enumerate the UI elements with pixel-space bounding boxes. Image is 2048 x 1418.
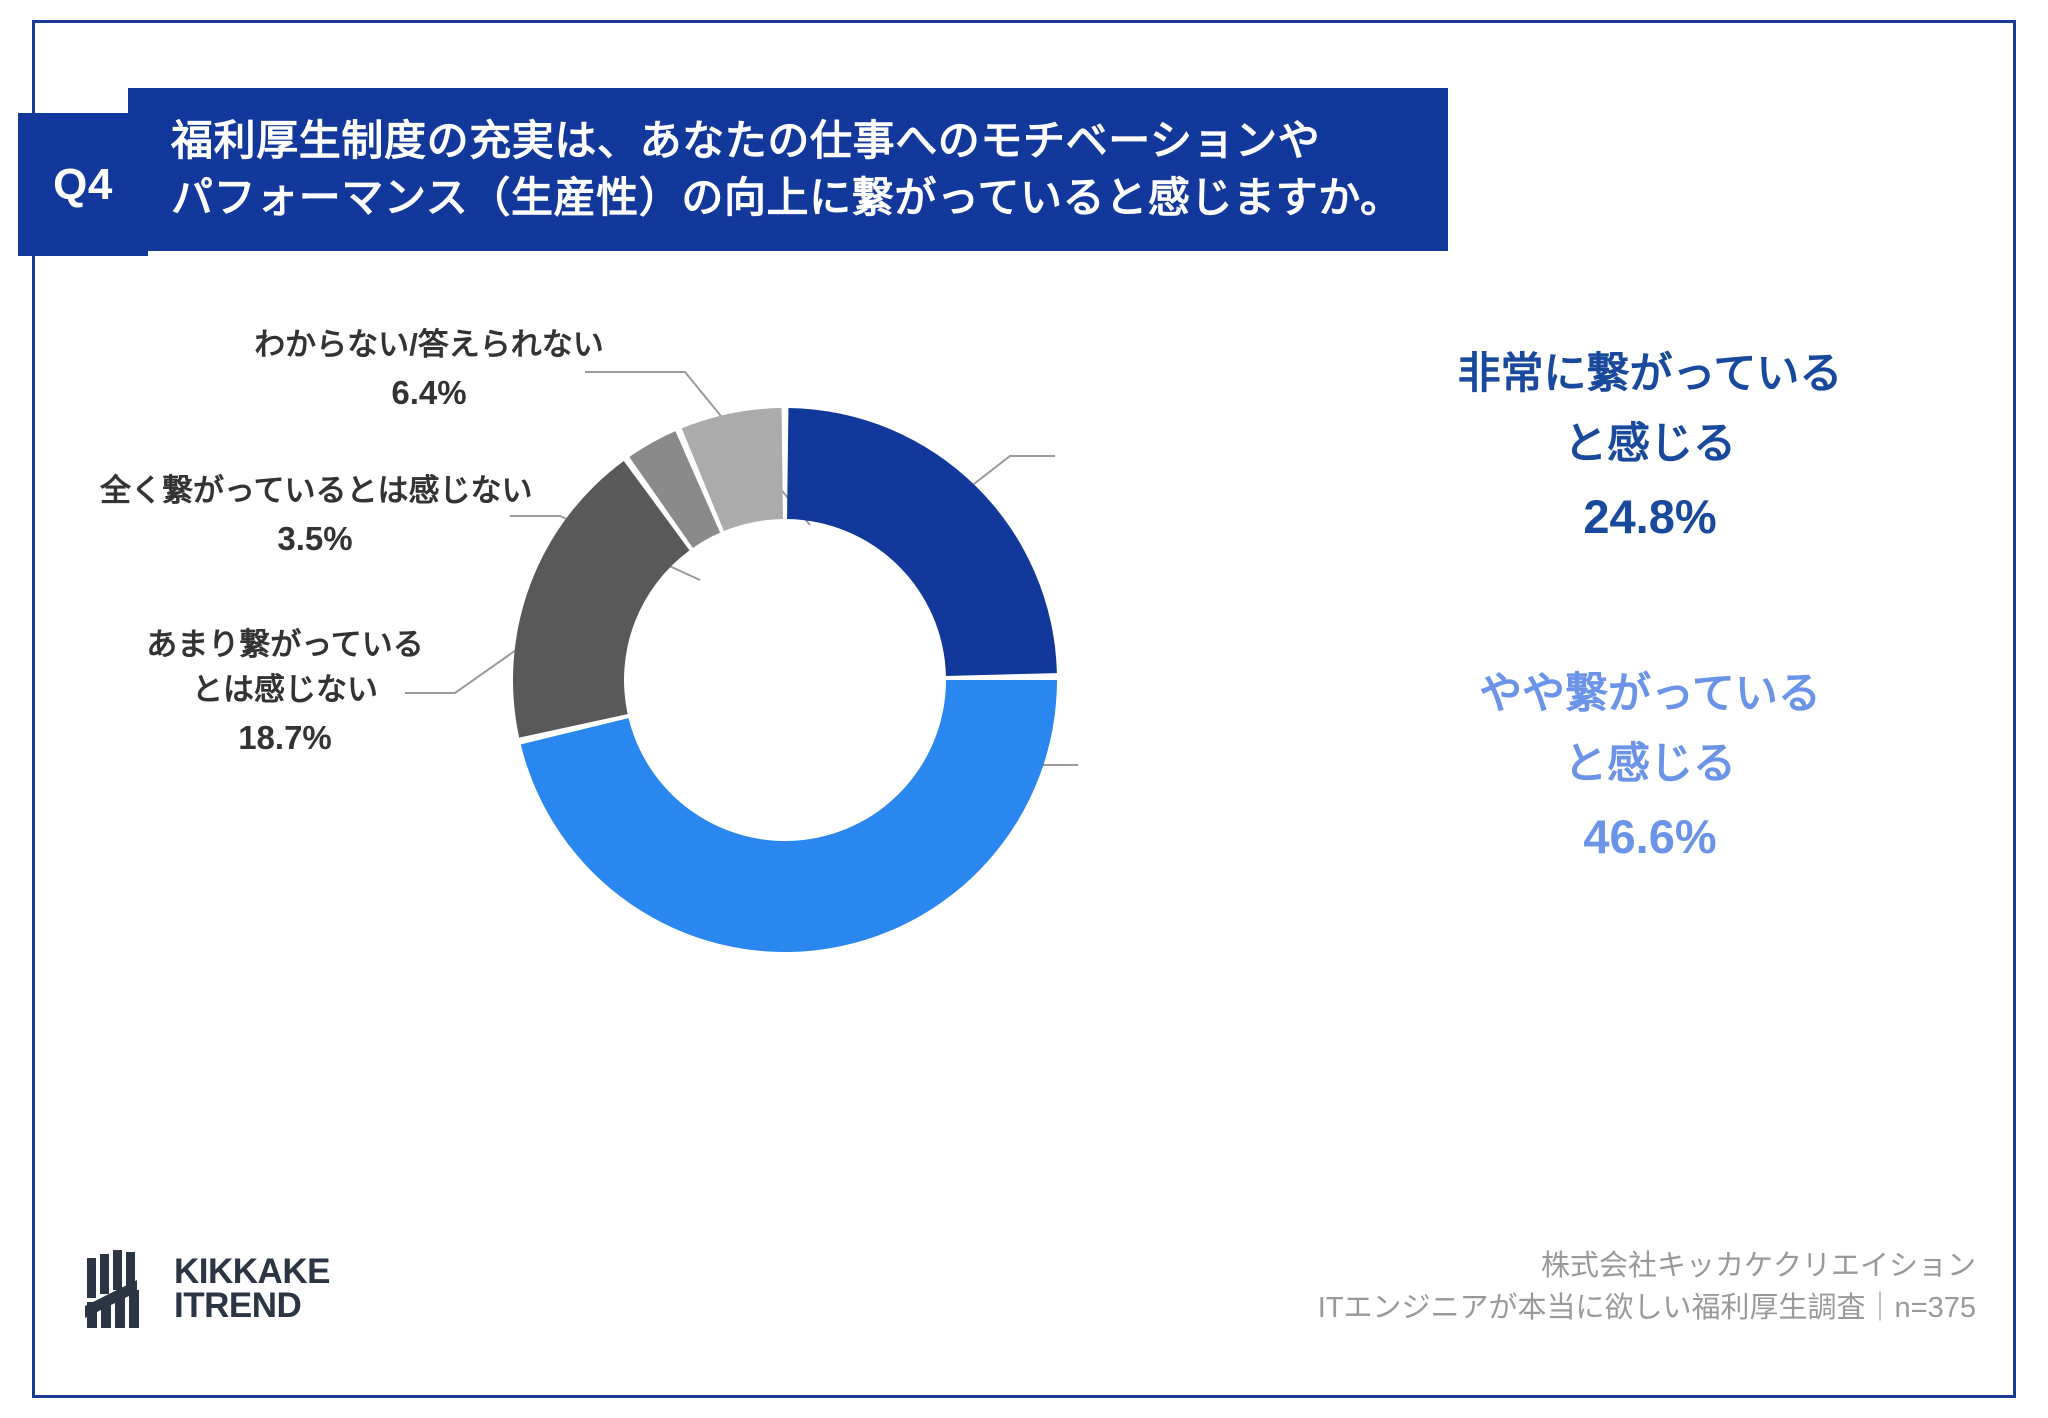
callout-mattaku: 全く繋がっているとは感じない 3.5%: [100, 469, 530, 563]
callout-amari-value: 18.7%: [120, 713, 450, 763]
attribution-company: 株式会社キッカケクリエイション: [1318, 1245, 1976, 1287]
callout-wakaranai: わからない/答えられない 6.4%: [254, 323, 604, 417]
callout-yaya-label-line-1: やや繋がっている: [1330, 660, 1970, 730]
callout-yaya-value: 46.6%: [1330, 799, 1970, 874]
question-number-label: Q4: [53, 160, 113, 210]
slide-root: Q4 福利厚生制度の充実は、あなたの仕事へのモチベーションや パフォーマンス（生…: [0, 0, 2048, 1418]
callout-wakaranai-label: わからない/答えられない: [254, 323, 604, 368]
donut-chart: [505, 400, 1065, 960]
callout-amari-label-line-2: とは感じない: [120, 668, 450, 713]
question-title-line-2: パフォーマンス（生産性）の向上に繋がっていると感じますか。: [171, 170, 1448, 226]
attribution-survey: ITエンジニアが本当に欲しい福利厚生調査｜n=375: [1318, 1287, 1976, 1329]
callout-hijou: 非常に繋がっている と感じる 24.8%: [1330, 340, 1970, 555]
callout-hijou-label-line-1: 非常に繋がっている: [1330, 340, 1970, 410]
donut-chart-svg: [505, 400, 1065, 960]
donut-slice: [521, 680, 1057, 952]
attribution: 株式会社キッカケクリエイション ITエンジニアが本当に欲しい福利厚生調査｜n=3…: [1318, 1245, 1976, 1329]
callout-wakaranai-value: 6.4%: [254, 368, 604, 418]
brand-wordmark-line-2: ITREND: [174, 1289, 330, 1323]
callout-yaya-label-line-2: と感じる: [1330, 730, 1970, 800]
callout-mattaku-value: 3.5%: [100, 514, 530, 564]
question-title-bar: 福利厚生制度の充実は、あなたの仕事へのモチベーションや パフォーマンス（生産性）…: [128, 88, 1448, 251]
callout-mattaku-label: 全く繋がっているとは感じない: [100, 469, 530, 514]
brand-wordmark: KIKKAKE ITREND: [174, 1255, 330, 1323]
callout-amari-label-line-1: あまり繋がっている: [120, 623, 450, 668]
callout-amari: あまり繋がっている とは感じない 18.7%: [120, 623, 450, 762]
kikkake-bars-icon: [85, 1250, 160, 1328]
brand-logo: KIKKAKE ITREND: [85, 1250, 330, 1328]
brand-wordmark-line-1: KIKKAKE: [174, 1255, 330, 1289]
callout-hijou-value: 24.8%: [1330, 479, 1970, 554]
chart-area: わからない/答えられない 6.4% 全く繋がっているとは感じない 3.5% あま…: [0, 260, 2048, 1260]
donut-slice: [787, 408, 1057, 676]
question-title-line-1: 福利厚生制度の充実は、あなたの仕事へのモチベーションや: [171, 113, 1448, 169]
callout-hijou-label-line-2: と感じる: [1330, 410, 1970, 480]
callout-yaya: やや繋がっている と感じる 46.6%: [1330, 660, 1970, 875]
